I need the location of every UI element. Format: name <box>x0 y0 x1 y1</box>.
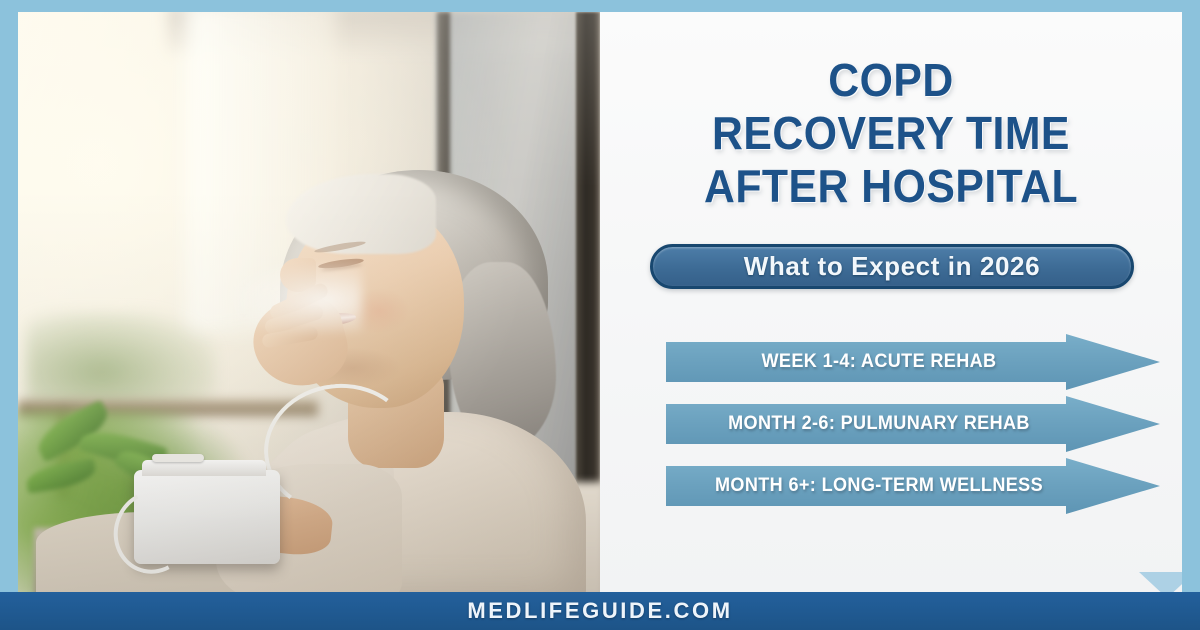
device-handle <box>152 454 204 462</box>
title-line-2: RECOVERY TIME <box>620 107 1161 160</box>
site-url: MEDLIFEGUIDE.COM <box>467 598 732 624</box>
timeline-step-1: WEEK 1-4: ACUTE REHAB <box>666 334 1160 390</box>
timeline-step-2: MONTH 2-6: PULMUNARY REHAB <box>666 396 1160 452</box>
subtitle-label: What to Expect in 2026 <box>744 251 1040 282</box>
title-line-3: AFTER HOSPITAL <box>620 160 1161 213</box>
device-top <box>142 460 266 476</box>
title-line-1: COPD <box>620 54 1161 107</box>
footer-bar: MEDLIFEGUIDE.COM <box>0 592 1200 630</box>
content-panel: COPD RECOVERY TIME AFTER HOSPITAL What t… <box>600 12 1182 597</box>
timeline-step-2-label: MONTH 2-6: PULMUNARY REHAB <box>701 396 1056 452</box>
infographic-poster: COPD RECOVERY TIME AFTER HOSPITAL What t… <box>0 0 1200 630</box>
mist-icon <box>232 262 362 332</box>
hero-photo <box>18 12 600 597</box>
timeline-step-3: MONTH 6+: LONG-TERM WELLNESS <box>666 458 1160 514</box>
timeline-step-1-label: WEEK 1-4: ACUTE REHAB <box>701 334 1056 390</box>
timeline-step-3-label: MONTH 6+: LONG-TERM WELLNESS <box>701 458 1056 514</box>
poster-inner-canvas: COPD RECOVERY TIME AFTER HOSPITAL What t… <box>18 12 1182 597</box>
page-title: COPD RECOVERY TIME AFTER HOSPITAL <box>620 54 1161 213</box>
subtitle-badge: What to Expect in 2026 <box>650 244 1134 289</box>
